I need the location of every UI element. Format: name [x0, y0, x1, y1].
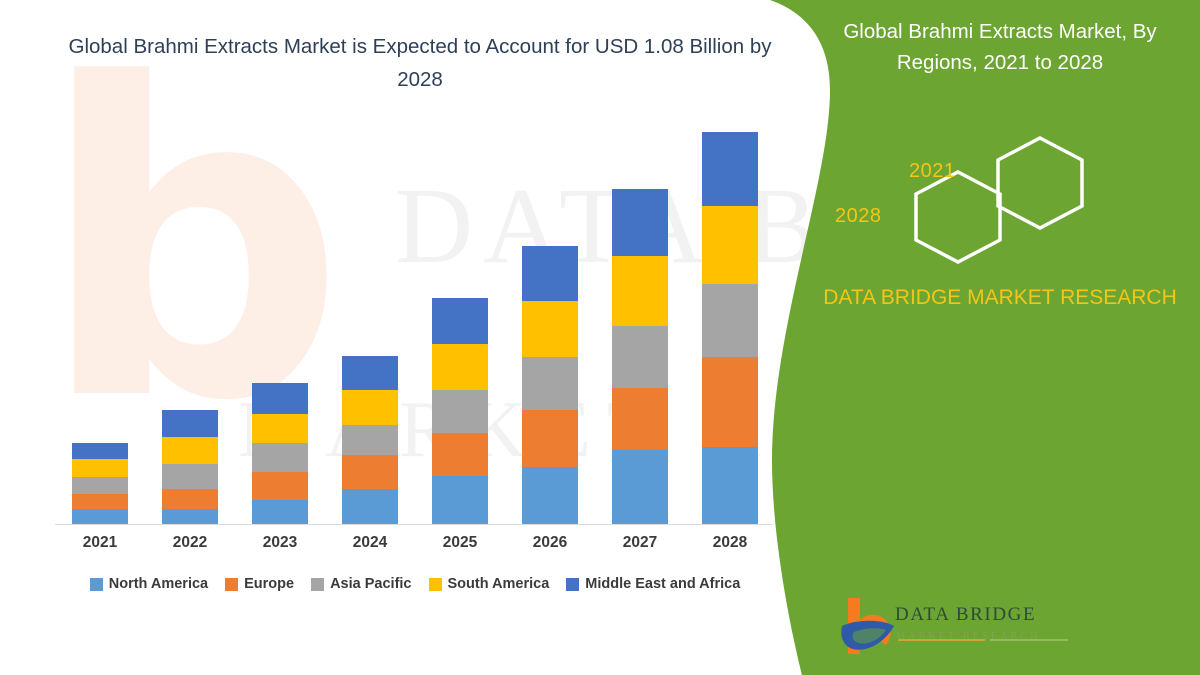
bar-chart-plot: [55, 120, 775, 525]
bar-segment[interactable]: [612, 256, 668, 326]
logo-wordmark: DATA BRIDGE: [895, 604, 1036, 626]
bar-segment[interactable]: [342, 489, 398, 525]
legend-item[interactable]: Middle East and Africa: [566, 576, 740, 592]
bar-group[interactable]: [522, 246, 578, 525]
bar-segment[interactable]: [342, 425, 398, 455]
bar-segment[interactable]: [432, 390, 488, 433]
bar-segment[interactable]: [252, 472, 308, 500]
bar-segment[interactable]: [702, 447, 758, 525]
legend-label: North America: [109, 576, 208, 592]
legend-swatch: [566, 578, 579, 591]
bar-group[interactable]: [432, 298, 488, 525]
bar-segment[interactable]: [72, 509, 128, 525]
x-axis-line: [55, 524, 773, 525]
legend-swatch: [311, 578, 324, 591]
bar-segment[interactable]: [522, 357, 578, 410]
bar-segment[interactable]: [72, 459, 128, 477]
legend-swatch: [225, 578, 238, 591]
bar-segment[interactable]: [432, 344, 488, 390]
legend-label: Asia Pacific: [330, 576, 411, 592]
x-axis-label: 2021: [65, 534, 135, 552]
bar-segment[interactable]: [342, 390, 398, 425]
bar-segment[interactable]: [432, 433, 488, 476]
bar-segment[interactable]: [702, 357, 758, 447]
bar-group[interactable]: [162, 410, 218, 525]
bar-segment[interactable]: [162, 509, 218, 525]
bar-segment[interactable]: [162, 437, 218, 464]
legend-label: South America: [448, 576, 550, 592]
right-green-panel: [770, 0, 1200, 675]
bar-segment[interactable]: [162, 464, 218, 489]
x-axis-label: 2025: [425, 534, 495, 552]
x-axis-labels: 20212022202320242025202620272028: [55, 534, 775, 560]
legend-swatch: [90, 578, 103, 591]
bar-segment[interactable]: [612, 189, 668, 257]
bar-segment[interactable]: [612, 450, 668, 525]
bar-segment[interactable]: [522, 301, 578, 357]
x-axis-label: 2024: [335, 534, 405, 552]
bar-segment[interactable]: [252, 414, 308, 443]
legend-item[interactable]: South America: [429, 576, 550, 592]
bar-segment[interactable]: [522, 246, 578, 301]
bar-group[interactable]: [72, 443, 128, 525]
legend-label: Europe: [244, 576, 294, 592]
legend-item[interactable]: Europe: [225, 576, 294, 592]
bar-segment[interactable]: [432, 298, 488, 344]
chart-legend: North AmericaEuropeAsia PacificSouth Ame…: [55, 576, 775, 592]
x-axis-label: 2028: [695, 534, 765, 552]
bar-segment[interactable]: [612, 388, 668, 450]
legend-item[interactable]: Asia Pacific: [311, 576, 411, 592]
x-axis-label: 2023: [245, 534, 315, 552]
bar-segment[interactable]: [72, 477, 128, 494]
bar-segment[interactable]: [342, 455, 398, 489]
x-axis-label: 2022: [155, 534, 225, 552]
logo-tagline: MARKET RESEARCH: [896, 631, 1041, 642]
bar-segment[interactable]: [702, 284, 758, 357]
bar-segment[interactable]: [522, 410, 578, 466]
bar-group[interactable]: [252, 383, 308, 525]
legend-item[interactable]: North America: [90, 576, 208, 592]
chart-title: Global Brahmi Extracts Market is Expecte…: [60, 30, 780, 96]
bar-segment[interactable]: [522, 467, 578, 526]
bar-group[interactable]: [612, 189, 668, 525]
bar-segment[interactable]: [342, 356, 398, 390]
bar-segment[interactable]: [72, 443, 128, 459]
infographic-root: b DATA BRIDGE MARKET RESEARCH Global Bra…: [0, 0, 1200, 675]
bar-segment[interactable]: [702, 132, 758, 205]
x-axis-label: 2027: [605, 534, 675, 552]
bar-segment[interactable]: [162, 410, 218, 437]
bar-segment[interactable]: [612, 326, 668, 388]
bar-group[interactable]: [342, 356, 398, 525]
legend-swatch: [429, 578, 442, 591]
bar-group[interactable]: [702, 132, 758, 525]
bar-segment[interactable]: [162, 489, 218, 509]
legend-label: Middle East and Africa: [585, 576, 740, 592]
bar-segment[interactable]: [432, 476, 488, 526]
bar-segment[interactable]: [252, 383, 308, 413]
bar-segment[interactable]: [252, 500, 308, 525]
bar-segment[interactable]: [72, 494, 128, 510]
bar-segment[interactable]: [702, 206, 758, 285]
x-axis-label: 2026: [515, 534, 585, 552]
bar-segment[interactable]: [252, 443, 308, 472]
